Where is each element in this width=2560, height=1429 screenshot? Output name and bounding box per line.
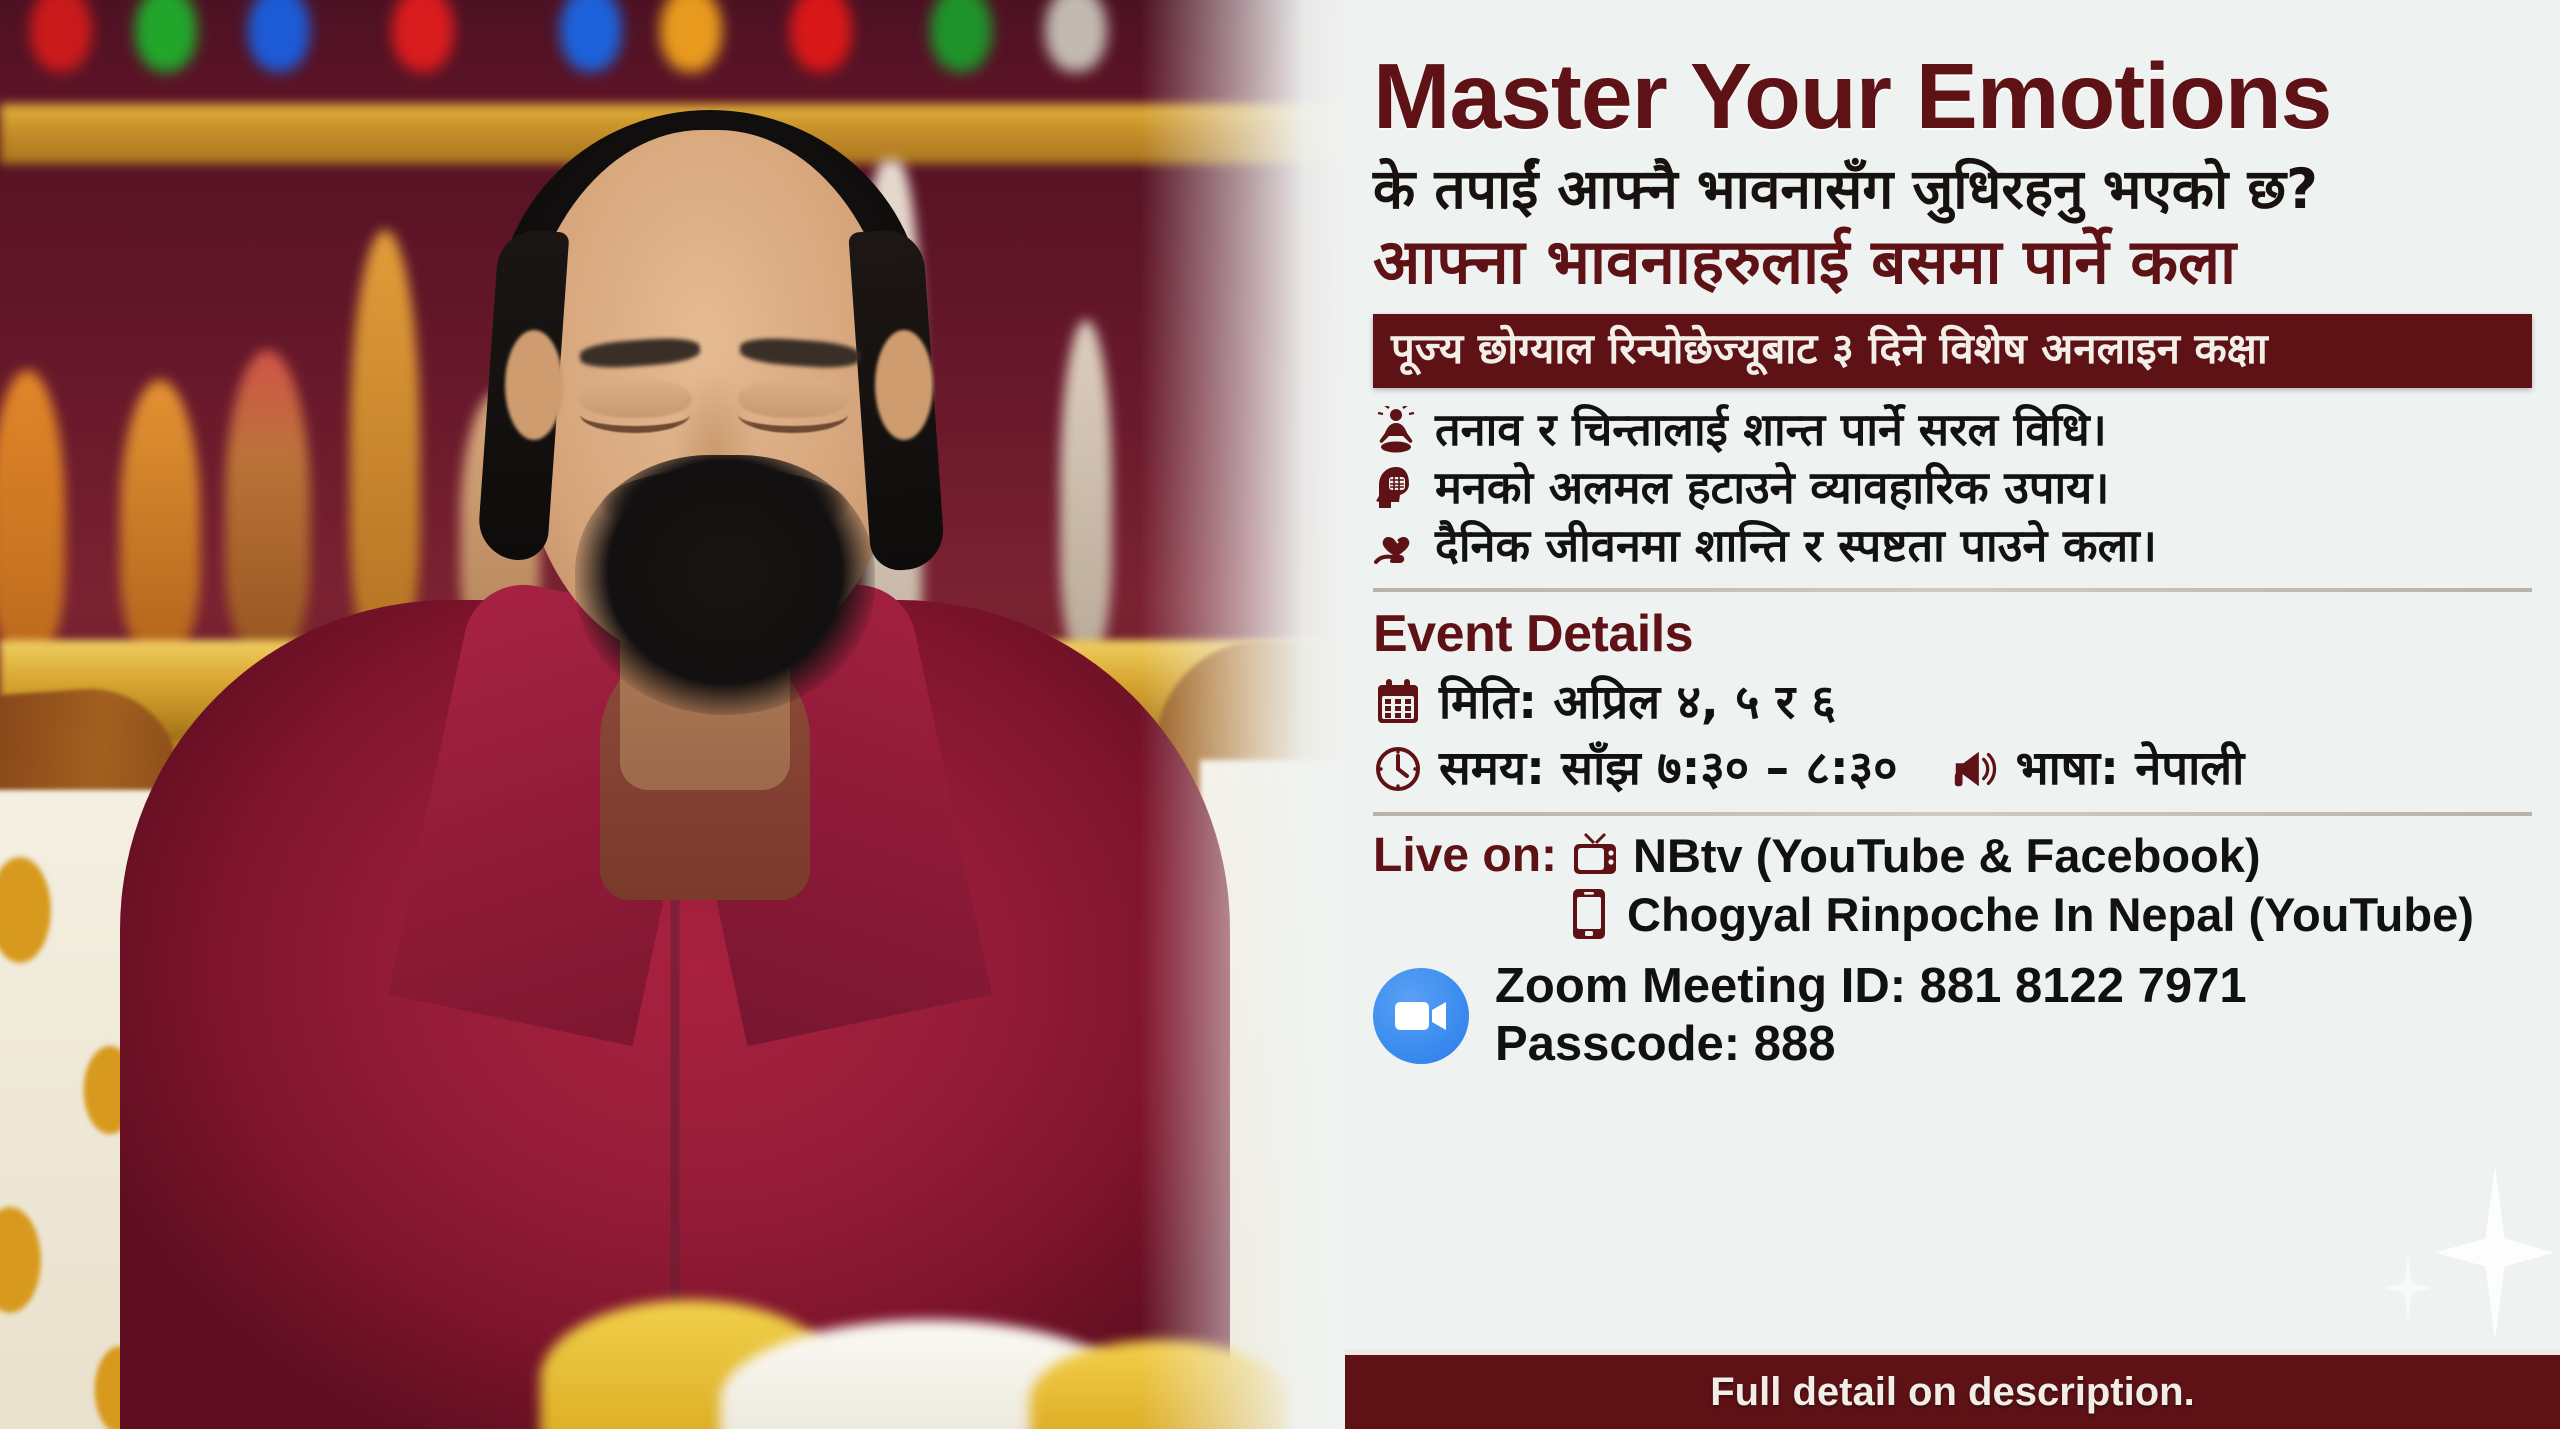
live-on-label: Live on: <box>1373 828 1557 883</box>
benefit-text-3: दैनिक जीवनमा शान्ति र स्पष्टता पाउने कला… <box>1435 520 2157 571</box>
poster-root: Master Your Emotions के तपाईं आफ्नै भावन… <box>0 0 2560 1429</box>
info-panel: Master Your Emotions के तपाईं आफ्नै भावन… <box>1345 0 2560 1429</box>
offering-light-red-3 <box>790 0 852 72</box>
live-channel-row-1: Live on: NBtv (YouTube & Facebook) <box>1373 828 2532 883</box>
live-channel-text-2: Chogyal Rinpoche In Nepal (YouTube) <box>1627 887 2474 942</box>
beard <box>575 455 875 715</box>
course-ribbon: पूज्य छोग्याल रिन्पोछेज्यूबाट ३ दिने विश… <box>1373 314 2532 388</box>
offering-light-white-1 <box>1045 0 1107 72</box>
benefit-text-1: तनाव र चिन्तालाई शान्त पार्ने सरल विधि। <box>1435 404 2107 455</box>
offering-light-green-2 <box>930 0 992 72</box>
speaker-photo <box>0 0 1345 1429</box>
ear-left <box>505 330 563 440</box>
event-time-language-row: समय: साँझ ७:३० – ८:३० भाषा: नेपाली <box>1373 742 2532 796</box>
offering-light-red-2 <box>392 0 454 72</box>
tv-icon <box>1571 828 1619 882</box>
event-date-row: मिति: अप्रिल ४, ५ र ६ <box>1373 676 2532 730</box>
photo-panel-fade <box>1140 0 1345 1429</box>
footer-bar: Full detail on description. <box>1345 1355 2560 1429</box>
offering-light-amber-1 <box>660 0 722 72</box>
smartphone-icon <box>1565 887 1613 941</box>
clock-icon <box>1373 742 1423 796</box>
ear-right <box>875 330 933 440</box>
megaphone-icon <box>1950 742 2000 796</box>
benefits-list: तनाव र चिन्तालाई शान्त पार्ने सरल विधि। … <box>1373 404 2532 572</box>
zoom-meeting-id: Zoom Meeting ID: 881 8122 7971 <box>1495 958 2247 1016</box>
zoom-meeting-block: Zoom Meeting ID: 881 8122 7971 Passcode:… <box>1373 958 2532 1074</box>
event-date-text: मिति: अप्रिल ४, ५ र ६ <box>1439 677 1836 729</box>
zoom-meeting-text: Zoom Meeting ID: 881 8122 7971 Passcode:… <box>1495 958 2247 1074</box>
subtitle-headline: आफ्ना भावनाहरुलाई बसमा पार्ने कला <box>1373 226 2532 298</box>
divider-above-event-details <box>1373 588 2532 592</box>
zoom-passcode: Passcode: 888 <box>1495 1016 2247 1074</box>
event-language-text: भाषा: नेपाली <box>2016 743 2245 795</box>
brain-head-icon <box>1373 462 1419 514</box>
shrine-statue-3 <box>225 350 310 650</box>
offering-light-green-1 <box>135 0 197 72</box>
benefit-item-3: दैनिक जीवनमा शान्ति र स्पष्टता पाउने कला… <box>1373 520 2532 572</box>
divider-above-live-on <box>1373 812 2532 816</box>
offering-light-blue-2 <box>560 0 622 72</box>
meditation-icon <box>1373 404 1419 456</box>
calendar-icon <box>1373 676 1423 730</box>
page-title: Master Your Emotions <box>1373 50 2532 143</box>
benefit-item-2: मनको अलमल हटाउने व्यावहारिक उपाय। <box>1373 462 2532 514</box>
offering-light-red-1 <box>30 0 92 72</box>
heart-in-hand-icon <box>1373 520 1419 572</box>
live-on-block: Live on: NBtv (YouTube & Facebook) <box>1373 828 2532 942</box>
shrine-statue-4 <box>350 230 420 650</box>
event-details-heading: Event Details <box>1373 604 2532 664</box>
zoom-video-icon <box>1373 968 1469 1064</box>
live-channel-text-1: NBtv (YouTube & Facebook) <box>1633 828 2261 883</box>
event-time-text: समय: साँझ ७:३० – ८:३० <box>1439 743 1898 795</box>
benefit-item-1: तनाव र चिन्तालाई शान्त पार्ने सरल विधि। <box>1373 404 2532 456</box>
live-channel-row-2: Chogyal Rinpoche In Nepal (YouTube) <box>1373 887 2532 942</box>
offering-light-blue-1 <box>248 0 310 72</box>
subtitle-question: के तपाईं आफ्नै भावनासँग जुधिरहनु भएको छ? <box>1373 157 2532 222</box>
shrine-statue-2 <box>120 380 200 650</box>
benefit-text-2: मनको अलमल हटाउने व्यावहारिक उपाय। <box>1435 462 2109 513</box>
shrine-statue-8 <box>1060 320 1112 650</box>
footer-text: Full detail on description. <box>1710 1370 2194 1415</box>
